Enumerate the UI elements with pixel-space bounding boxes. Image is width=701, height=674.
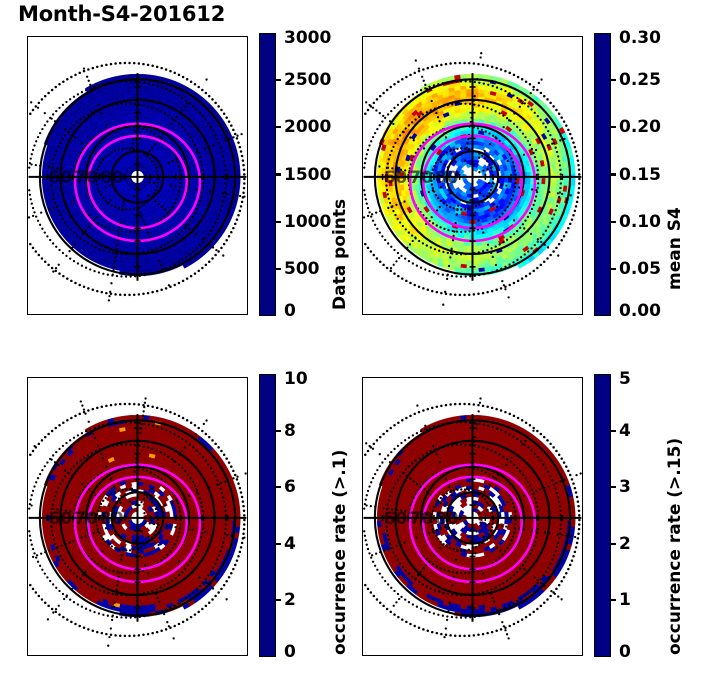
latitude-tick-label: 60 (49, 168, 73, 188)
colorbar-tick (276, 221, 281, 223)
polar-plot-area: 607080 (27, 377, 248, 656)
colorbar-tick (611, 599, 616, 601)
colorbar-tick (276, 486, 281, 488)
colorbar-ticks: 012345 (594, 374, 611, 657)
colorbar-tick-label: 6 (284, 477, 296, 497)
colorbar-ticks: 0.000.050.100.150.200.250.30 (594, 33, 611, 316)
colorbar-title-occurrence-01: occurrence rate (>.1) (330, 450, 350, 655)
colorbar-tick-label: 0 (284, 642, 296, 662)
colorbar-tick (611, 126, 616, 128)
polar-plot-area: 607080 (362, 377, 583, 656)
colorbar-tick-label: 2000 (284, 117, 331, 137)
colorbar-tick-label: 1000 (284, 212, 331, 232)
colorbar-ticks: 050010001500200025003000 (259, 33, 276, 316)
polar-grid-svg: 607080 (27, 377, 248, 656)
polar-panel-occurrence-015: 607080 (362, 377, 583, 656)
polar-panel-data-points: 607080 (27, 36, 248, 315)
colorbar-tick (611, 173, 616, 175)
colorbar-tick (611, 79, 616, 81)
polar-grid-svg: 607080 (362, 377, 583, 656)
colorbar-tick-label: 0.20 (619, 117, 661, 137)
colorbar-tick (611, 221, 616, 223)
colorbar-tick-label: 0 (619, 642, 631, 662)
colorbar-tick (276, 599, 281, 601)
colorbar-occurrence-01: 0246810 (259, 374, 276, 657)
colorbar-title-occurrence-015: occurrence rate (>.15) (665, 438, 685, 655)
colorbar-tick-label: 8 (284, 421, 296, 441)
colorbar-tick (276, 173, 281, 175)
polar-panel-occurrence-01: 607080 (27, 377, 248, 656)
polar-plot-area: 607080 (362, 36, 583, 315)
colorbar-tick-label: 500 (284, 259, 320, 279)
latitude-tick-label: 70 (74, 168, 98, 188)
colorbar-tick (276, 79, 281, 81)
latitude-tick-label: 70 (409, 509, 433, 529)
colorbar-tick (611, 486, 616, 488)
latitude-tick-labels: 607080 (49, 168, 124, 188)
colorbar-tick-label: 2 (284, 590, 296, 610)
latitude-tick-label: 60 (49, 509, 73, 529)
latitude-tick-label: 60 (384, 509, 408, 529)
page-title: Month-S4-201612 (18, 2, 225, 26)
colorbar-tick (276, 430, 281, 432)
colorbar-mean-s4: 0.000.050.100.150.200.250.30 (594, 33, 611, 316)
polar-grid-svg: 607080 (27, 36, 248, 315)
colorbar-tick (276, 543, 281, 545)
colorbar-tick-label: 0.15 (619, 165, 661, 185)
latitude-tick-labels: 607080 (384, 168, 459, 188)
colorbar-title-mean-s4: mean S4 (665, 207, 685, 290)
colorbar-tick-label: 5 (619, 369, 631, 389)
figure-canvas: Month-S4-201612 607080 05001000150020002… (0, 0, 701, 674)
colorbar-tick-label: 3 (619, 477, 631, 497)
colorbar-tick-label: 3000 (284, 28, 331, 48)
colorbar-tick-label: 10 (284, 369, 308, 389)
colorbar-tick (611, 430, 616, 432)
colorbar-tick-label: 0 (284, 301, 296, 321)
colorbar-tick-label: 1500 (284, 165, 331, 185)
colorbar-tick-label: 0.05 (619, 259, 661, 279)
colorbar-tick-label: 2500 (284, 70, 331, 90)
latitude-tick-label: 60 (384, 168, 408, 188)
colorbar-tick-label: 0.00 (619, 301, 661, 321)
colorbar-tick (611, 268, 616, 270)
colorbar-tick (276, 126, 281, 128)
polar-grid-svg: 607080 (362, 36, 583, 315)
polar-panel-mean-s4: 607080 (362, 36, 583, 315)
latitude-tick-label: 80 (435, 168, 459, 188)
colorbar-tick-label: 2 (619, 534, 631, 554)
latitude-tick-label: 70 (74, 509, 98, 529)
colorbar-tick-label: 0.10 (619, 212, 661, 232)
latitude-tick-labels: 607080 (49, 509, 124, 529)
latitude-tick-label: 80 (100, 168, 124, 188)
colorbar-title-data-points: Data points (330, 199, 350, 310)
colorbar-tick (611, 543, 616, 545)
latitude-tick-label: 80 (100, 509, 124, 529)
colorbar-tick (276, 268, 281, 270)
colorbar-tick-label: 0.25 (619, 70, 661, 90)
colorbar-tick-label: 1 (619, 590, 631, 610)
latitude-tick-labels: 607080 (384, 509, 459, 529)
latitude-tick-label: 80 (435, 509, 459, 529)
latitude-tick-label: 70 (409, 168, 433, 188)
colorbar-tick-label: 4 (619, 421, 631, 441)
colorbar-ticks: 0246810 (259, 374, 276, 657)
colorbar-data-points: 050010001500200025003000 (259, 33, 276, 316)
colorbar-tick-label: 0.30 (619, 28, 661, 48)
colorbar-occurrence-015: 012345 (594, 374, 611, 657)
polar-plot-area: 607080 (27, 36, 248, 315)
colorbar-tick-label: 4 (284, 534, 296, 554)
